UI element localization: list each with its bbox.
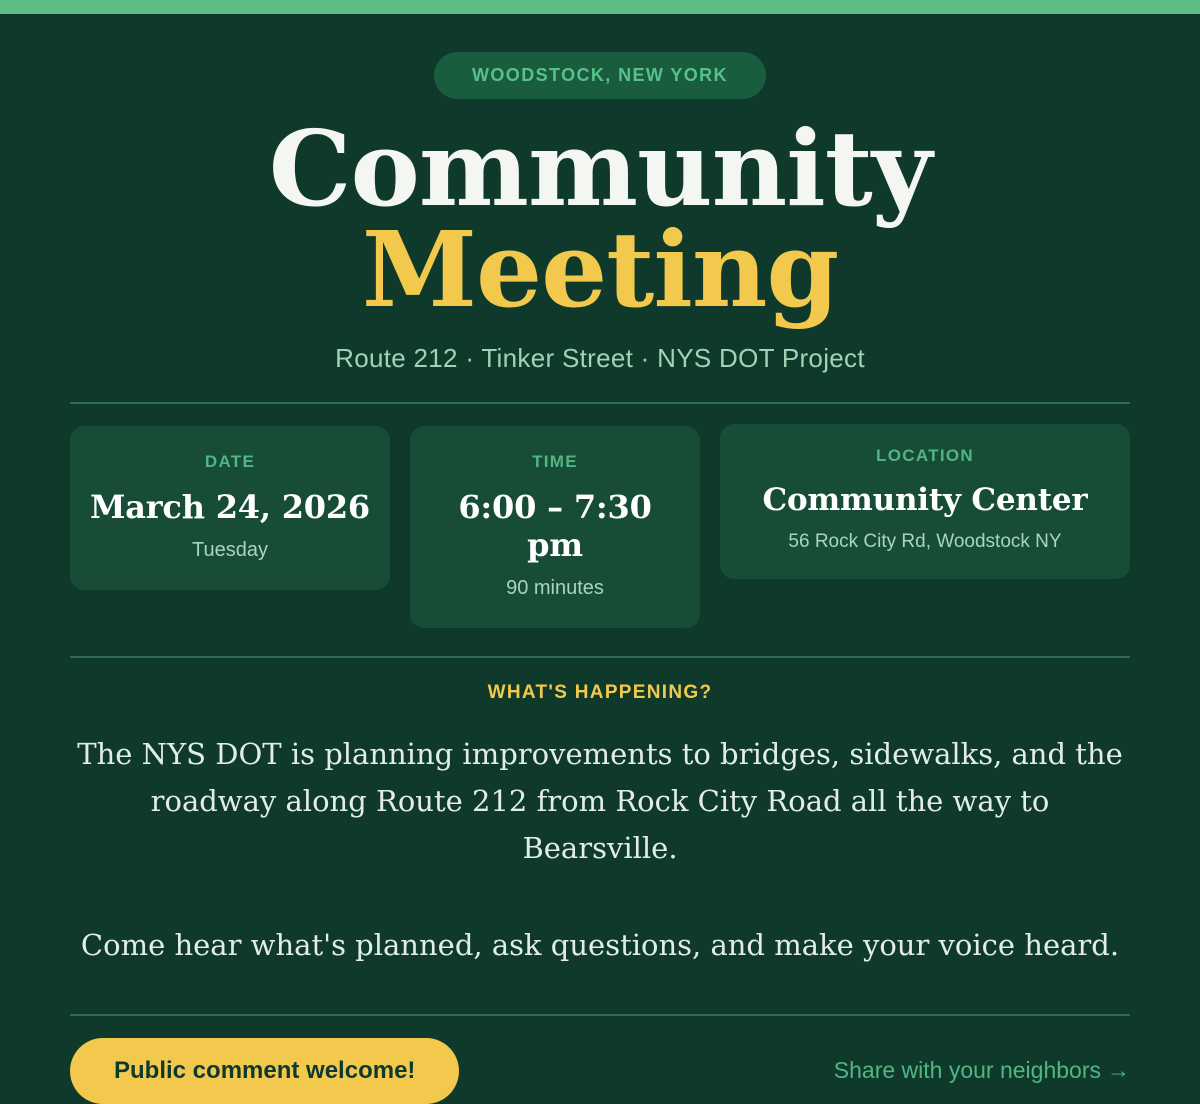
footer-divider bbox=[70, 1014, 1130, 1016]
body-paragraph-2: Come hear what's planned, ask questions,… bbox=[70, 922, 1130, 969]
info-card-label: TIME bbox=[426, 452, 684, 472]
top-accent-bar bbox=[0, 0, 1200, 14]
poster-footer: Public comment welcome! Share with your … bbox=[70, 1038, 1130, 1104]
info-card-label: DATE bbox=[86, 452, 374, 472]
info-card-sub: 90 minutes bbox=[426, 577, 684, 600]
info-card-location: LOCATION Community Center 56 Rock City R… bbox=[720, 424, 1130, 579]
info-card-sub: 56 Rock City Rd, Woodstock NY bbox=[736, 531, 1114, 553]
header-divider bbox=[70, 402, 1130, 404]
section-heading: WHAT'S HAPPENING? bbox=[70, 682, 1130, 704]
info-card-label: LOCATION bbox=[736, 446, 1114, 466]
cards-divider bbox=[70, 656, 1130, 658]
title-line-primary: Community bbox=[70, 119, 1130, 220]
info-card-value: Community Center bbox=[736, 482, 1114, 518]
info-card-date: DATE March 24, 2026 Tuesday bbox=[70, 426, 390, 590]
info-cards-row: DATE March 24, 2026 Tuesday TIME 6:00 – … bbox=[70, 426, 1130, 628]
share-link-label: Share with your neighbors bbox=[834, 1057, 1101, 1083]
body-paragraph-1: The NYS DOT is planning improvements to … bbox=[70, 731, 1130, 872]
location-badge: WOODSTOCK, NEW YORK bbox=[434, 52, 766, 99]
info-card-time: TIME 6:00 – 7:30 pm 90 minutes bbox=[410, 426, 700, 628]
title-line-accent: Meeting bbox=[70, 220, 1130, 321]
body-section: WHAT'S HAPPENING? The NYS DOT is plannin… bbox=[70, 682, 1130, 969]
poster-subtitle: Route 212 · Tinker Street · NYS DOT Proj… bbox=[70, 343, 1130, 374]
public-comment-button[interactable]: Public comment welcome! bbox=[70, 1038, 459, 1104]
poster-header: WOODSTOCK, NEW YORK Community Meeting Ro… bbox=[70, 14, 1130, 374]
arrow-right-icon: → bbox=[1107, 1057, 1130, 1083]
info-card-value: March 24, 2026 bbox=[86, 488, 374, 526]
poster-container: WOODSTOCK, NEW YORK Community Meeting Ro… bbox=[0, 14, 1200, 1104]
share-link[interactable]: Share with your neighbors→ bbox=[834, 1057, 1130, 1084]
page-title: Community Meeting bbox=[70, 119, 1130, 321]
info-card-sub: Tuesday bbox=[86, 539, 374, 562]
info-card-value: 6:00 – 7:30 pm bbox=[426, 488, 684, 564]
